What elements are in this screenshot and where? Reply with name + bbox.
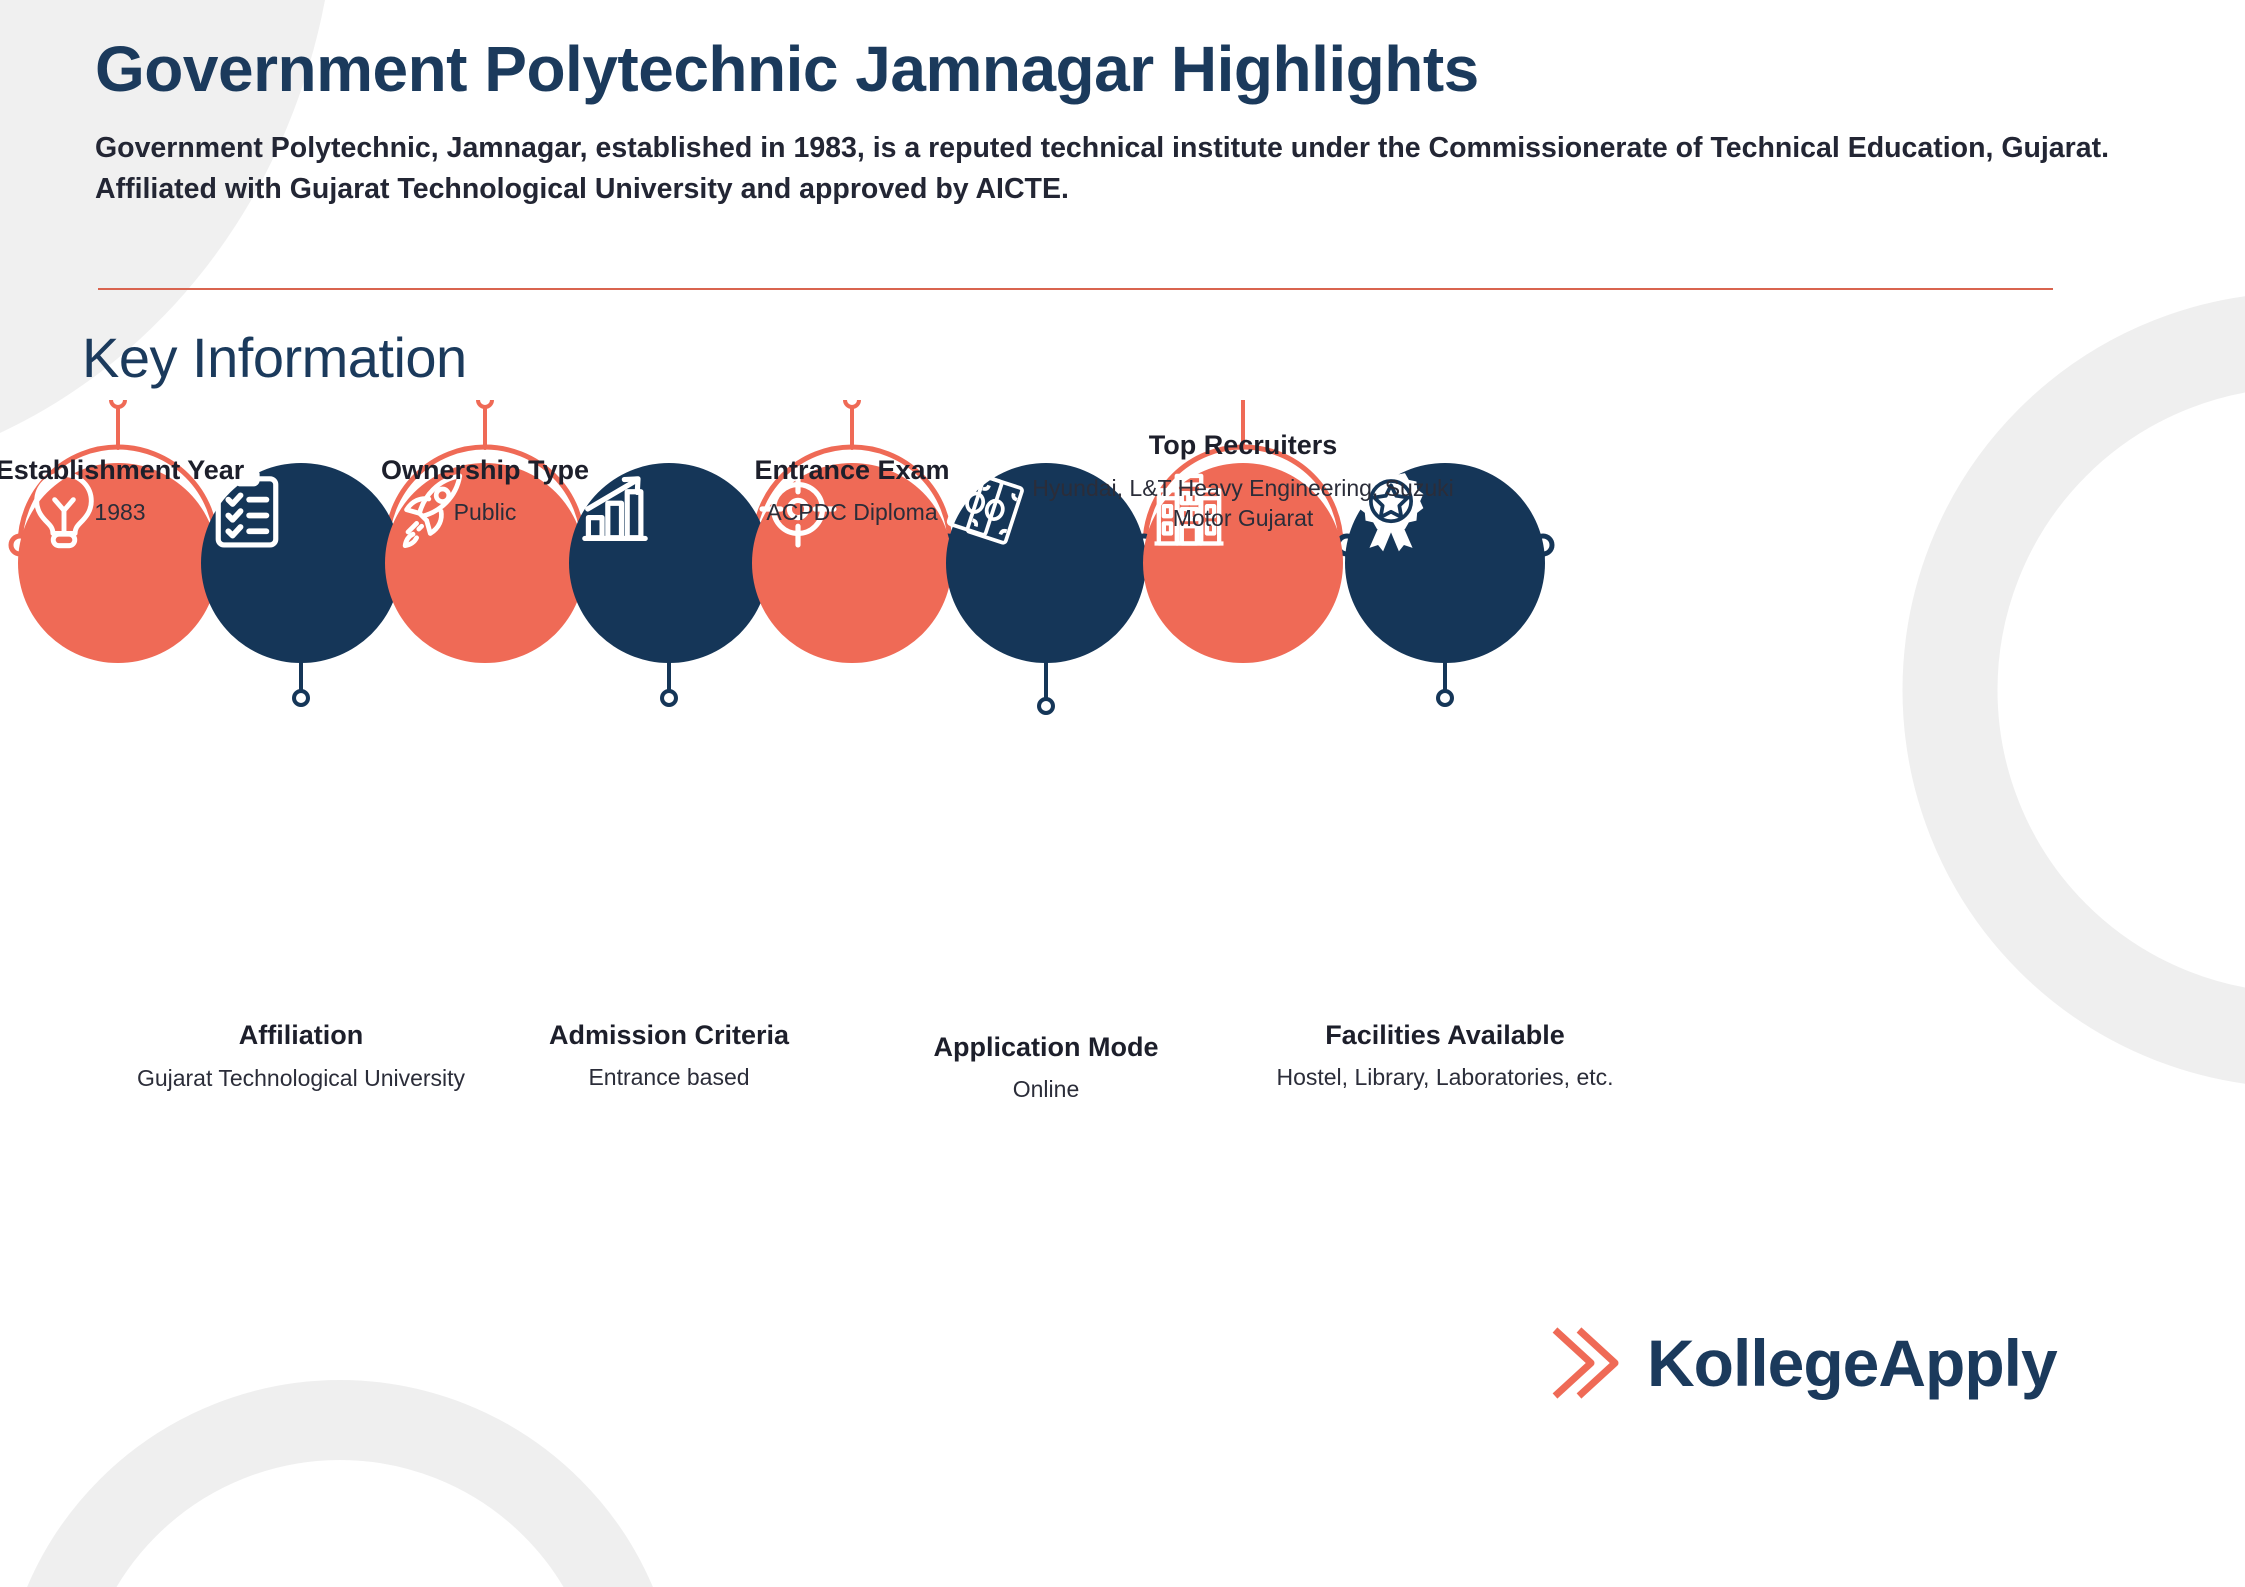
label-application-mode: Application Mode Online — [866, 1032, 1226, 1103]
brand-name: KollegeApply — [1647, 1330, 2057, 1396]
header: Government Polytechnic Jamnagar Highligh… — [95, 34, 2155, 209]
header-divider — [98, 288, 2053, 290]
label-affiliation: Affiliation Gujarat Technological Univer… — [121, 1020, 481, 1093]
label-establishment-year: Establishment Year 1983 — [0, 455, 300, 526]
label-top-recruiters: Top Recruiters Hyundai, L&T Heavy Engine… — [1028, 430, 1458, 534]
section-title: Key Information — [82, 325, 467, 390]
page-title: Government Polytechnic Jamnagar Highligh… — [95, 34, 2155, 104]
kollegeapply-logo[interactable]: KollegeApply — [1545, 1322, 2057, 1404]
label-facilities-available: Facilities Available Hostel, Library, La… — [1220, 1020, 1670, 1091]
double-chevron-right-icon — [1545, 1322, 1623, 1404]
label-entrance-exam: Entrance Exam ACPDC Diploma — [672, 455, 1032, 526]
label-admission-criteria: Admission Criteria Entrance based — [489, 1020, 849, 1091]
label-ownership-type: Ownership Type Public — [305, 455, 665, 526]
page-subtitle: Government Polytechnic, Jamnagar, establ… — [95, 128, 2155, 209]
